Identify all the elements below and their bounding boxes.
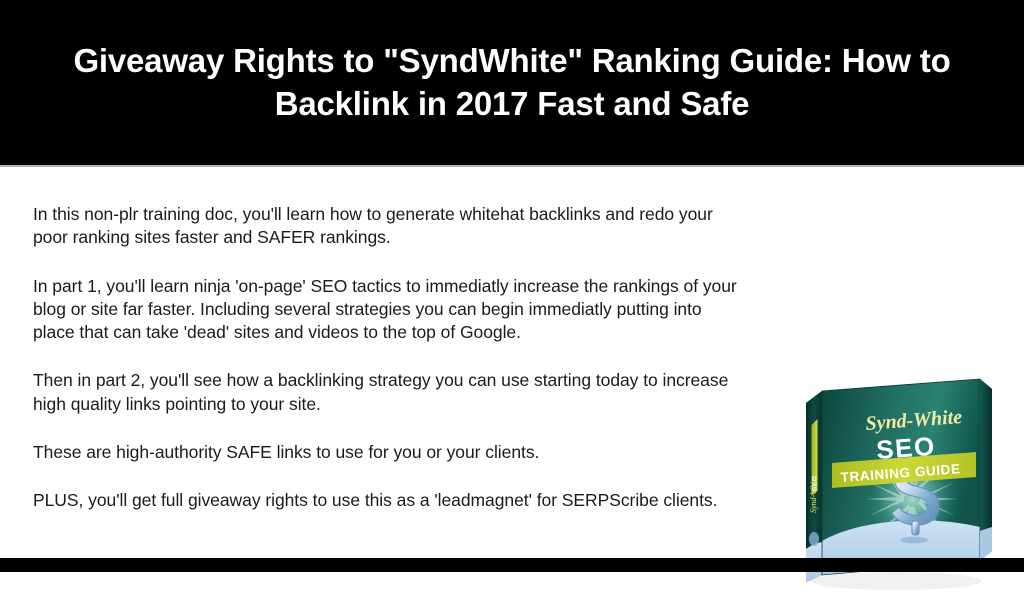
- description-copy: In this non-plr training doc, you'll lea…: [33, 203, 745, 512]
- page-title: Giveaway Rights to "SyndWhite" Ranking G…: [42, 40, 982, 124]
- paragraph: These are high-authority SAFE links to u…: [33, 441, 745, 464]
- paragraph: In this non-plr training doc, you'll lea…: [33, 203, 745, 250]
- paragraph: Then in part 2, you'll see how a backlin…: [33, 369, 745, 416]
- spine-seo-label: SEO: [812, 475, 819, 491]
- poster-page: Giveaway Rights to "SyndWhite" Ranking G…: [0, 0, 1024, 572]
- paragraph: PLUS, you'll get full giveaway rights to…: [33, 489, 745, 512]
- box-shadow: [810, 572, 982, 590]
- spine-dollar-icon: [809, 532, 819, 546]
- right-side-wave: [980, 527, 992, 561]
- body-area: In this non-plr training doc, you'll lea…: [0, 167, 1024, 556]
- dollar-shadow: [900, 537, 928, 544]
- paragraph: In part 1, you'll learn ninja 'on-page' …: [33, 275, 745, 345]
- header-banner: Giveaway Rights to "SyndWhite" Ranking G…: [0, 0, 1024, 165]
- footer-bar: [0, 558, 1024, 572]
